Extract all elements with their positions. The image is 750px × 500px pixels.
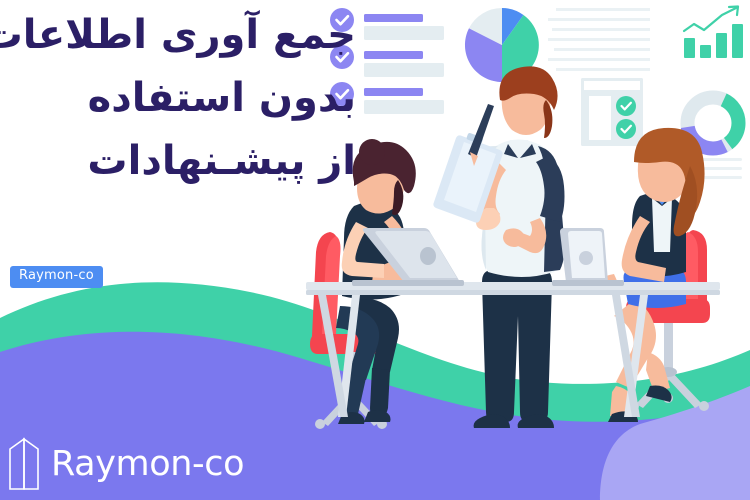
checklist-title-bar [364,14,423,22]
figure-standing-man-center [433,66,564,428]
checklist-body-bar [364,63,444,77]
checklist-body-bar [364,100,444,114]
trend-line [684,8,736,31]
document-text-lines [548,8,650,71]
bar-chart-growth-icon [684,7,743,59]
desk-top-edge [306,290,720,295]
headline-line-2: بدون استفاده [0,67,356,130]
brand-logo: Raymon-co [8,437,244,491]
watermark-badge: Raymon-co [10,266,103,288]
chair-post [664,323,673,371]
bar-3 [716,33,727,58]
laptop-base [352,280,464,286]
laptop-base [552,280,624,286]
building-outline-mark-icon [8,437,42,491]
check-circle-icon [616,119,636,139]
page-title: جمع آوری اطلاعات بدون استفاده از پیشـنها… [0,4,356,194]
bar-4 [732,24,743,58]
checklist-title-bar [364,51,423,59]
banner-canvas: جمع آوری اطلاعات بدون استفاده از پیشـنها… [0,0,750,500]
headline-line-3: از پیشـنهادات [0,130,356,193]
bar-1 [684,38,695,58]
laptop-logo [579,251,593,265]
headline-line-1: جمع آوری اطلاعات [0,4,356,67]
form-body-block [589,96,611,140]
checklist-title-bar [364,88,423,96]
check-circle-icon [616,96,636,116]
chair-caster [315,419,325,429]
bar-2 [700,45,711,58]
form-header-bar [584,81,640,90]
chair-caster [699,401,709,411]
brand-logo-text: Raymon-co [51,447,244,482]
laptop-logo [420,247,436,265]
blouse-front [652,198,672,252]
form-checklist-card-icon [581,78,643,146]
checklist-body-bar [364,26,444,40]
figure-seated-woman-right [598,128,710,422]
hair-bun [359,139,385,165]
